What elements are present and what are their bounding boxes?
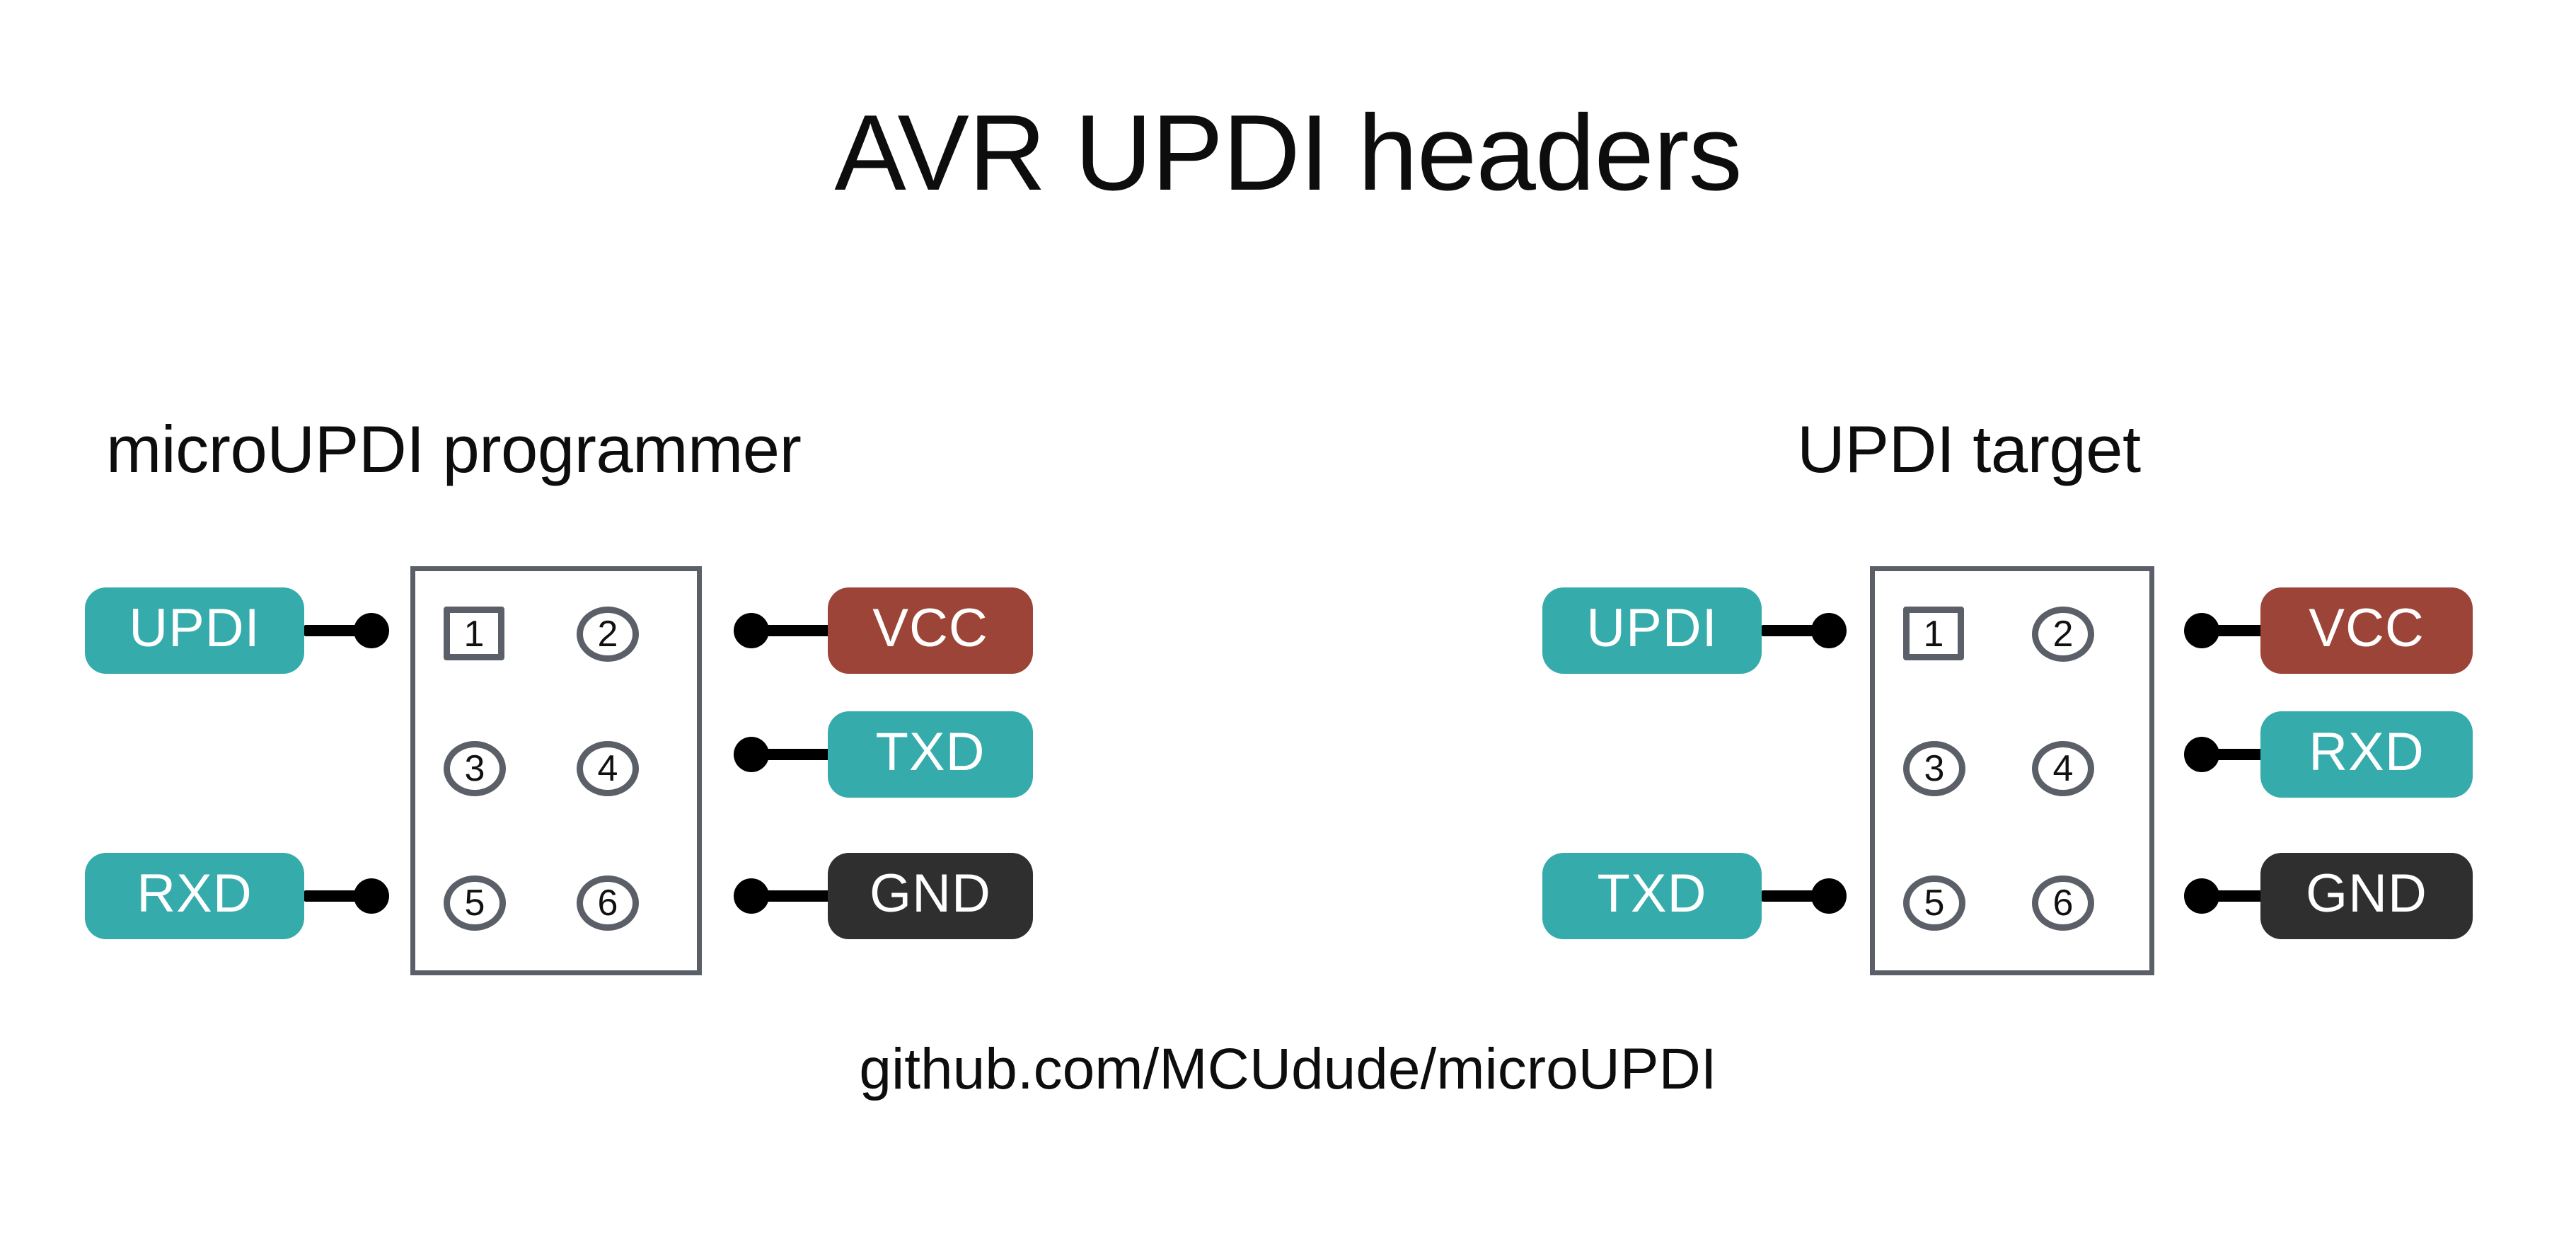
signal-pill-updi-programmer[interactable]: UPDI — [85, 587, 304, 674]
connector-target: 1 2 3 4 5 6 — [1870, 566, 2154, 975]
node-dot-updi-programmer — [354, 613, 389, 648]
signal-pill-rxd-programmer[interactable]: RXD — [85, 853, 304, 939]
pin-2: 2 — [577, 607, 639, 662]
pin-5: 5 — [444, 876, 506, 931]
pin-6: 6 — [2032, 876, 2094, 931]
pin-6: 6 — [577, 876, 639, 931]
pin-2: 2 — [2032, 607, 2094, 662]
node-dot-updi-target — [1811, 613, 1847, 648]
panel-title-target: UPDI target — [1797, 416, 2141, 483]
pin-3: 3 — [444, 741, 506, 796]
wire-txd-programmer — [750, 749, 835, 760]
signal-pill-updi-target[interactable]: UPDI — [1542, 587, 1762, 674]
wire-vcc-programmer — [750, 625, 835, 636]
pin-4: 4 — [577, 741, 639, 796]
panel-title-programmer: microUPDI programmer — [106, 416, 801, 483]
connector-programmer: 1 2 3 4 5 6 — [410, 566, 702, 975]
pin-1: 1 — [1903, 607, 1964, 660]
footer-url[interactable]: github.com/MCUdude/microUPDI — [0, 1040, 2576, 1098]
signal-pill-gnd-programmer[interactable]: GND — [828, 853, 1033, 939]
pin-1: 1 — [444, 607, 504, 660]
signal-pill-vcc-target[interactable]: VCC — [2260, 587, 2473, 674]
signal-pill-txd-programmer[interactable]: TXD — [828, 711, 1033, 798]
signal-pill-txd-target[interactable]: TXD — [1542, 853, 1762, 939]
node-dot-txd-target — [1811, 878, 1847, 914]
pin-4: 4 — [2032, 741, 2094, 796]
node-dot-rxd-programmer — [354, 878, 389, 914]
page-title: AVR UPDI headers — [0, 99, 2576, 207]
pin-3: 3 — [1903, 741, 1965, 796]
wire-gnd-programmer — [750, 890, 835, 902]
signal-pill-gnd-target[interactable]: GND — [2260, 853, 2473, 939]
diagram-canvas: AVR UPDI headers microUPDI programmer 1 … — [0, 0, 2576, 1240]
signal-pill-vcc-programmer[interactable]: VCC — [828, 587, 1033, 674]
pin-5: 5 — [1903, 876, 1965, 931]
signal-pill-rxd-target[interactable]: RXD — [2260, 711, 2473, 798]
